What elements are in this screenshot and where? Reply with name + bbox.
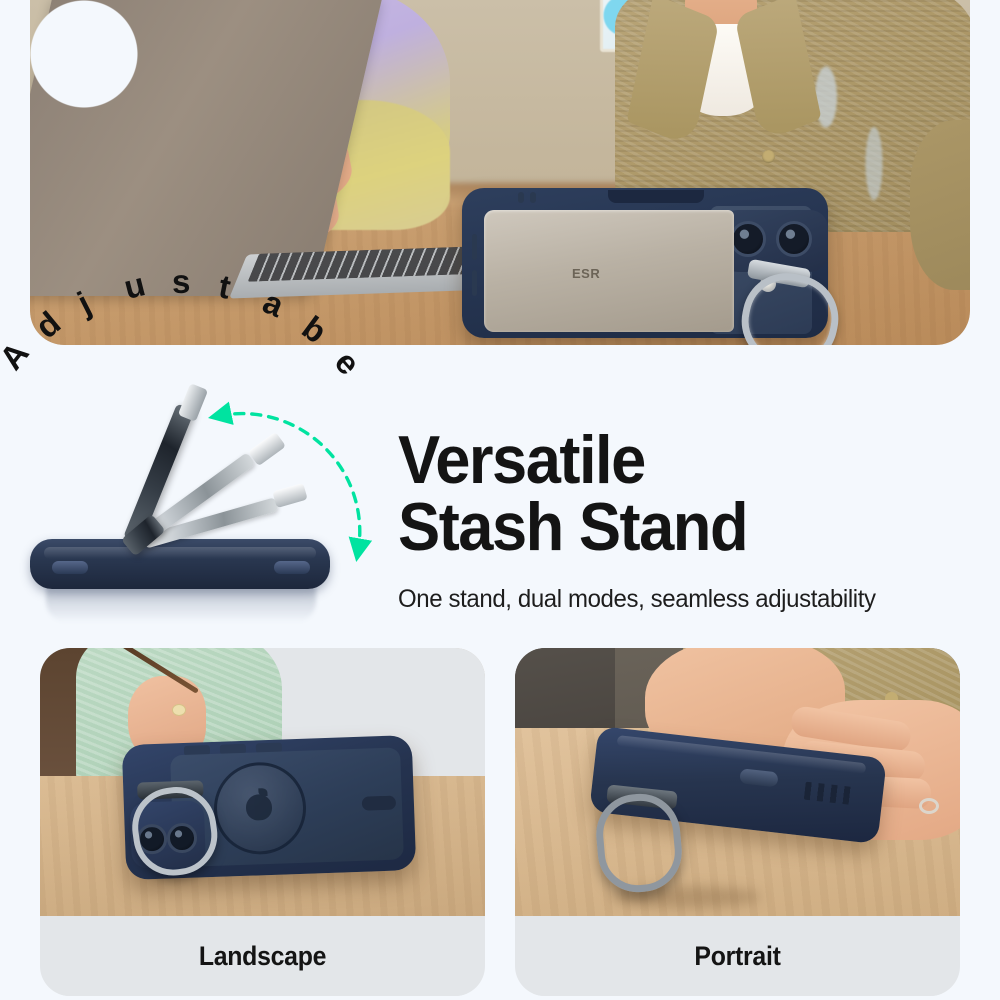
adjustable-label-char: s <box>171 263 190 301</box>
case-side-button <box>472 270 477 296</box>
finger-ring <box>919 798 939 814</box>
finger-ring <box>172 704 186 716</box>
dark-panel <box>515 648 615 740</box>
marketing-page: ESR <box>0 0 1000 1000</box>
page-title: Versatile Stash Stand <box>398 427 747 562</box>
case-side-pill <box>362 796 396 811</box>
case-speaker-vents <box>804 782 854 805</box>
hero-phone-case: ESR <box>462 188 828 338</box>
page-title-line2: Stash Stand <box>398 489 747 565</box>
case-button <box>739 768 778 787</box>
mode-cards: Landscape <box>0 648 1000 1000</box>
mode-label-landscape: Landscape <box>58 916 467 996</box>
mode-card-portrait[interactable]: Portrait <box>515 648 960 996</box>
lifestyle-hero-photo: ESR <box>30 0 970 345</box>
apple-logo-icon <box>246 794 273 821</box>
phone-case-landscape <box>122 735 417 880</box>
portrait-mode-photo <box>515 648 960 916</box>
page-title-line1: Versatile <box>398 422 645 498</box>
phone-back-panel <box>484 210 734 332</box>
case-speaker-vent <box>518 192 524 203</box>
landscape-mode-photo <box>40 648 485 916</box>
camera-lens <box>730 221 766 257</box>
hero-scene: ESR <box>30 0 970 345</box>
case-speaker-vent <box>530 192 536 203</box>
adjustable-label-char: e <box>327 344 368 383</box>
camera-lens <box>776 221 812 257</box>
page-subtitle: One stand, dual modes, seamless adjustab… <box>398 585 876 614</box>
case-grip-cutout <box>52 561 88 574</box>
mode-label-portrait: Portrait <box>533 916 942 996</box>
mode-card-landscape[interactable]: Landscape <box>40 648 485 996</box>
stand-adjustable-side-view: Adjustabe <box>28 387 358 607</box>
esr-brand-mark: ESR <box>572 266 600 281</box>
man-arm <box>910 120 970 290</box>
man-cardigan-button <box>762 150 775 163</box>
case-side-button <box>472 234 477 260</box>
case-top-cutout <box>608 190 704 203</box>
feature-section: Adjustabe Versatile Stash Stand One stan… <box>0 345 1000 645</box>
adjustable-curved-label: Adjustabe <box>178 381 418 601</box>
